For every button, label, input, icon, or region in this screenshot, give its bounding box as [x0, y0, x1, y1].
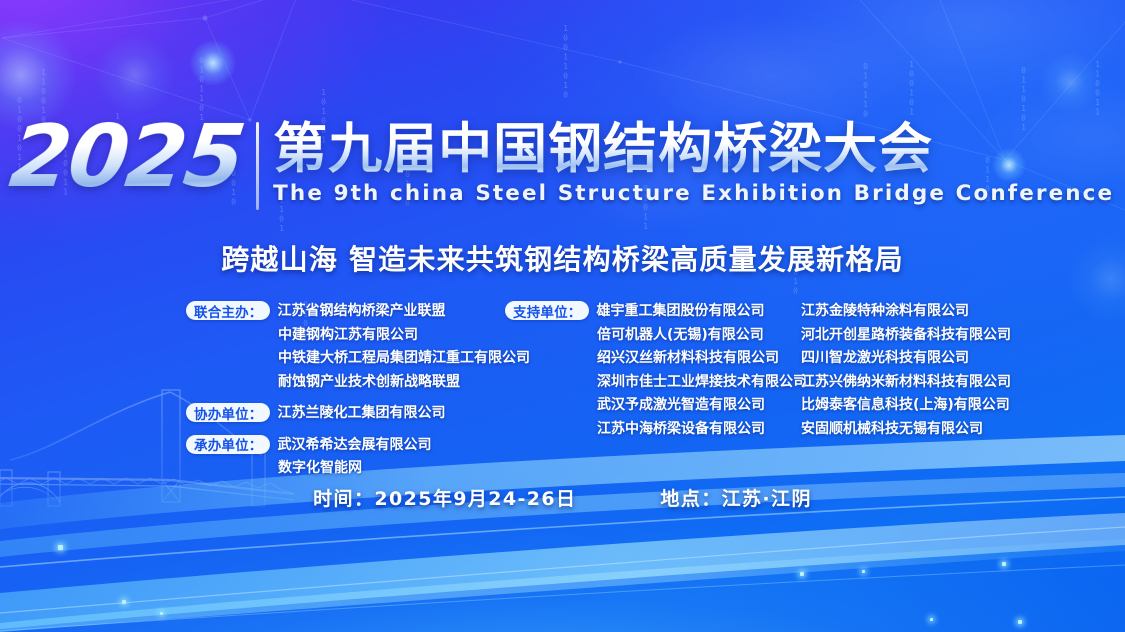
sponsor-org: 江苏兴佛纳米新材料科技有限公司: [801, 371, 1046, 395]
sponsor-row: 支持单位： 雄宇重工集团股份有限公司: [505, 300, 795, 324]
conference-banner: 01001011 1100101 010011 10110 0101101 11…: [0, 0, 1125, 632]
sponsor-row: 承办单位： 武汉希希达会展有限公司: [186, 434, 506, 458]
banner-content: 2025 第九届中国钢结构桥梁大会 The 9th china Steel St…: [0, 0, 1125, 632]
sponsor-column-middle: 支持单位： 雄宇重工集团股份有限公司 倍可机器人(无锡)有限公司 绍兴汉丝新材料…: [505, 300, 795, 441]
sponsor-row: 联合主办： 江苏省钢结构桥梁产业联盟: [186, 300, 506, 324]
event-location: 地点：江苏·江阴: [660, 484, 811, 511]
sponsor-list-middle: 倍可机器人(无锡)有限公司 绍兴汉丝新材料科技有限公司 深圳市佳士工业焊接技术有…: [505, 324, 795, 442]
title-block: 第九届中国钢结构桥梁大会 The 9th china Steel Structu…: [273, 118, 1114, 206]
sponsor-column-left: 联合主办： 江苏省钢结构桥梁产业联盟 中建钢构江苏有限公司 中铁建大桥工程局集团…: [186, 300, 506, 481]
sponsor-org: 武汉希希达会展有限公司: [270, 434, 432, 458]
sponsor-row: 数字化智能网: [186, 457, 506, 481]
sponsor-org: 绍兴汉丝新材料科技有限公司: [589, 347, 795, 371]
sponsor-org: 倍可机器人(无锡)有限公司: [589, 324, 795, 348]
sponsor-org: 四川智龙激光科技有限公司: [801, 347, 1046, 371]
sponsor-org: 比姆泰客信息科技(上海)有限公司: [801, 394, 1046, 418]
sponsor-row: 耐蚀钢产业技术创新战略联盟: [186, 371, 506, 395]
label-pill-chengban-danwei: 承办单位：: [186, 435, 270, 454]
event-date: 时间：2025年9月24-26日: [313, 484, 576, 511]
title-row: 2025 第九届中国钢结构桥梁大会 The 9th china Steel St…: [0, 118, 1125, 210]
sponsor-row: 中建钢构江苏有限公司: [186, 324, 506, 348]
sponsor-row: 协办单位： 江苏兰陵化工集团有限公司: [186, 402, 506, 426]
sponsor-org: 耐蚀钢产业技术创新战略联盟: [270, 371, 460, 395]
sponsor-org: 深圳市佳士工业焊接技术有限公司: [589, 371, 795, 395]
label-pill-lianhe-zhuban: 联合主办：: [186, 301, 270, 320]
footer-info: 时间：2025年9月24-26日 地点：江苏·江阴: [0, 484, 1125, 511]
sponsor-group-host-organizer: 承办单位： 武汉希希达会展有限公司 数字化智能网: [186, 434, 506, 481]
sponsor-row: 中铁建大桥工程局集团靖江重工有限公司: [186, 347, 506, 371]
sponsor-org: 数字化智能网: [270, 457, 362, 481]
sponsor-org: 江苏金陵特种涂料有限公司: [801, 300, 1046, 324]
sponsor-org: 安固顺机械科技无锡有限公司: [801, 418, 1046, 442]
sponsor-org: 江苏中海桥梁设备有限公司: [589, 418, 795, 442]
sponsor-group-co-organizers: 联合主办： 江苏省钢结构桥梁产业联盟 中建钢构江苏有限公司 中铁建大桥工程局集团…: [186, 300, 506, 394]
conference-title-en: The 9th china Steel Structure Exhibition…: [273, 181, 1114, 206]
sponsor-column-right: 江苏金陵特种涂料有限公司 河北开创星路桥装备科技有限公司 四川智龙激光科技有限公…: [801, 300, 1046, 441]
sponsor-group-assistant-organizer: 协办单位： 江苏兰陵化工集团有限公司: [186, 402, 506, 426]
label-pill-zhichi-danwei: 支持单位：: [505, 301, 589, 320]
sponsor-org: 武汉予成激光智造有限公司: [589, 394, 795, 418]
sponsor-org: 中建钢构江苏有限公司: [270, 324, 418, 348]
conference-title-cn: 第九届中国钢结构桥梁大会: [273, 120, 1114, 177]
sponsor-org: 雄宇重工集团股份有限公司: [589, 300, 765, 324]
sponsors-section: 联合主办： 江苏省钢结构桥梁产业联盟 中建钢构江苏有限公司 中铁建大桥工程局集团…: [186, 300, 1046, 465]
sponsor-org: 江苏兰陵化工集团有限公司: [270, 402, 446, 426]
sponsor-org: 河北开创星路桥装备科技有限公司: [801, 324, 1046, 348]
label-pill-xieban-danwei: 协办单位：: [186, 403, 270, 422]
conference-slogan: 跨越山海 智造未来共筑钢结构桥梁高质量发展新格局: [0, 238, 1125, 278]
sponsor-org: 江苏省钢结构桥梁产业联盟: [270, 300, 446, 324]
year-number: 2025: [6, 118, 261, 198]
sponsor-org: 中铁建大桥工程局集团靖江重工有限公司: [270, 347, 530, 371]
